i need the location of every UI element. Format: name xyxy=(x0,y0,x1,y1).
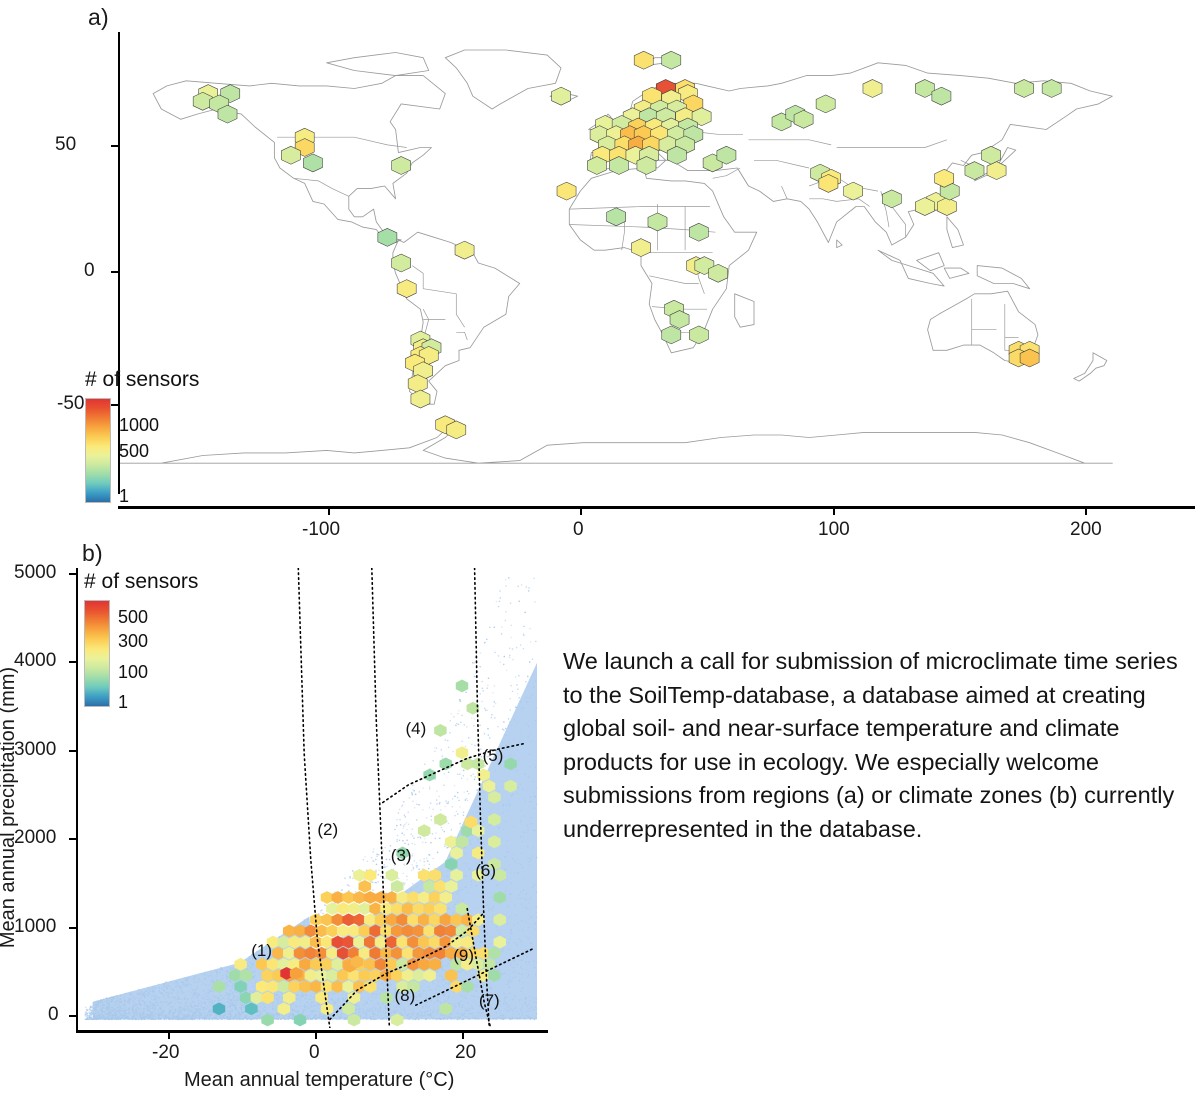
hex-x-ticklabel-20: 20 xyxy=(455,1042,476,1064)
hex-y-ticklabel-0: 0 xyxy=(48,1004,59,1026)
hex-y-tick-4000 xyxy=(69,661,76,663)
climate-zone-label-9: (9) xyxy=(453,946,474,966)
hex-colorbar-ticks: 500 300 100 1 xyxy=(118,600,188,707)
map-y-ticklabel-0: 0 xyxy=(84,260,95,282)
hex-legend-title: # of sensors xyxy=(84,570,198,594)
panel-a-label: a) xyxy=(88,4,109,31)
hex-y-tick-5000 xyxy=(69,573,76,575)
climate-zone-label-6: (6) xyxy=(475,861,496,881)
map-y-ticklabel-minus50: -50 xyxy=(57,393,84,415)
call-text-paragraph: We launch a call for submission of micro… xyxy=(563,645,1200,846)
hex-y-ticklabel-1000: 1000 xyxy=(14,916,56,938)
hex-x-ticklabel-minus20: -20 xyxy=(152,1042,179,1064)
hex-colorbar xyxy=(84,600,110,707)
map-legend-title: # of sensors xyxy=(85,368,199,392)
map-colorbar xyxy=(85,398,111,503)
map-x-axis-line xyxy=(118,506,1195,509)
world-map-plot-area xyxy=(120,32,1195,494)
hex-colorbar-tick-100: 100 xyxy=(118,663,148,681)
hex-x-axis-line xyxy=(76,1030,548,1033)
hex-y-tick-0 xyxy=(69,1015,76,1017)
climate-zone-label-8: (8) xyxy=(394,986,415,1006)
map-colorbar-tick-1: 1 xyxy=(119,487,129,505)
map-colorbar-tick-500: 500 xyxy=(119,442,149,460)
map-y-tick-50 xyxy=(111,145,118,147)
hex-legend: # of sensors 500 300 100 1 xyxy=(84,570,198,707)
hex-y-ticklabel-4000: 4000 xyxy=(14,650,56,672)
hex-y-ticklabel-5000: 5000 xyxy=(14,562,56,584)
map-x-tick-0 xyxy=(580,508,582,515)
hex-colorbar-tick-1: 1 xyxy=(118,693,128,711)
hex-y-ticklabel-2000: 2000 xyxy=(14,827,56,849)
map-x-tick-100 xyxy=(833,508,835,515)
hex-y-tick-3000 xyxy=(69,750,76,752)
world-map-svg xyxy=(120,32,1195,494)
climate-zone-label-2: (2) xyxy=(317,820,338,840)
climate-zone-label-4: (4) xyxy=(405,719,426,739)
hex-y-axis-title: Mean annual precipitation (mm) xyxy=(0,667,20,948)
map-legend: # of sensors 1000 500 1 xyxy=(85,368,199,503)
hex-x-axis-title: Mean annual temperature (°C) xyxy=(184,1069,454,1092)
climate-zone-label-1: (1) xyxy=(251,941,272,961)
hex-x-tick-minus20 xyxy=(168,1032,170,1039)
climate-zone-label-3: (3) xyxy=(391,846,412,866)
map-x-ticklabel-200: 200 xyxy=(1070,519,1102,541)
map-x-ticklabel-minus100: -100 xyxy=(302,519,340,541)
hex-y-ticklabel-3000: 3000 xyxy=(14,739,56,761)
figure-root: a) 50 0 -50 -100 0 100 200 # of sensors xyxy=(0,0,1200,1097)
map-y-ticklabel-50: 50 xyxy=(55,134,76,156)
map-x-tick-minus100 xyxy=(328,508,330,515)
map-y-tick-0 xyxy=(111,271,118,273)
map-x-tick-200 xyxy=(1085,508,1087,515)
climate-zone-label-7: (7) xyxy=(479,991,500,1011)
call-for-submission-text: We launch a call for submission of micro… xyxy=(563,645,1200,846)
map-colorbar-tick-1000: 1000 xyxy=(119,416,159,434)
hex-y-tick-2000 xyxy=(69,838,76,840)
hex-y-tick-1000 xyxy=(69,927,76,929)
map-x-ticklabel-0: 0 xyxy=(573,519,584,541)
hex-x-ticklabel-0: 0 xyxy=(309,1042,320,1064)
hex-colorbar-tick-300: 300 xyxy=(118,632,148,650)
panel-a-world-map: a) 50 0 -50 -100 0 100 200 # of sensors xyxy=(0,0,1200,555)
hex-x-tick-0 xyxy=(315,1032,317,1039)
climate-zone-label-5: (5) xyxy=(483,746,504,766)
panel-b-label: b) xyxy=(82,540,103,567)
hex-x-tick-20 xyxy=(462,1032,464,1039)
hex-colorbar-tick-500: 500 xyxy=(118,608,148,626)
map-x-ticklabel-100: 100 xyxy=(818,519,850,541)
map-colorbar-ticks: 1000 500 1 xyxy=(119,398,199,503)
